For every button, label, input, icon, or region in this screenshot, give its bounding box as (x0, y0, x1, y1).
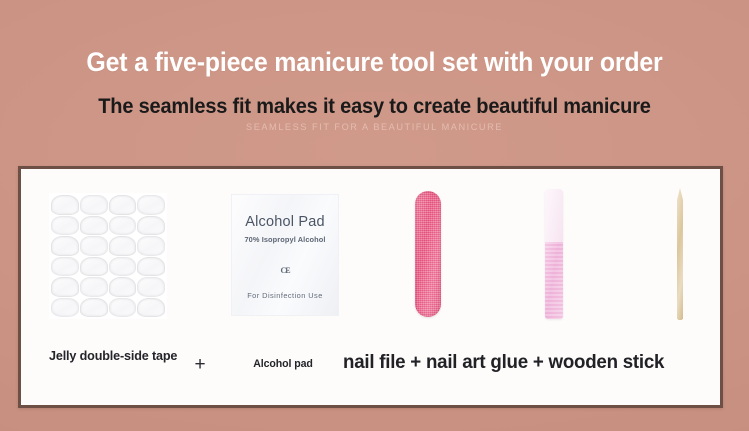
jelly-tape-tab (51, 277, 79, 297)
caption-alcohol-pad: Alcohol pad (227, 341, 339, 371)
promo-banner: Get a five-piece manicure tool set with … (0, 0, 749, 431)
jelly-tape-tab (137, 236, 165, 256)
glue-cap (545, 189, 563, 243)
product-slot-nail-file (373, 169, 483, 341)
nail-file-image (415, 191, 441, 317)
jelly-tape-tab (109, 216, 137, 236)
header-block: Get a five-piece manicure tool set with … (0, 0, 749, 133)
jelly-tape-tab (80, 216, 108, 236)
glue-body (545, 242, 563, 319)
product-image-strip: Alcohol Pad 70% Isopropyl Alcohol CE For… (21, 169, 720, 341)
ce-mark-icon: CE (232, 244, 338, 275)
alcohol-pad-package-title: Alcohol Pad (232, 195, 338, 230)
jelly-tape-tab (137, 195, 165, 215)
caption-tool-trio: nail file + nail art glue + wooden stick (343, 341, 700, 374)
jelly-tape-tab (51, 298, 79, 318)
jelly-tape-tab (80, 298, 108, 318)
jelly-tape-tab (80, 277, 108, 297)
jelly-tape-tab (109, 298, 137, 318)
product-slot-wooden-stick (625, 169, 735, 341)
product-card: Alcohol Pad 70% Isopropyl Alcohol CE For… (18, 166, 723, 408)
jelly-tape-tab (51, 216, 79, 236)
jelly-tape-tab (109, 236, 137, 256)
jelly-tape-tab (109, 195, 137, 215)
alcohol-pad-sachet-image: Alcohol Pad 70% Isopropyl Alcohol CE For… (231, 194, 339, 316)
caption-jelly-tape: Jelly double-side tape (49, 341, 181, 365)
jelly-tape-tab (109, 277, 137, 297)
jelly-tape-tab (51, 236, 79, 256)
jelly-tape-tab (137, 298, 165, 318)
jelly-tape-tab (80, 195, 108, 215)
product-slot-jelly-tape (37, 169, 179, 341)
alcohol-pad-package-subtitle: 70% Isopropyl Alcohol (232, 230, 338, 244)
jelly-tape-tab (51, 257, 79, 277)
jelly-tape-tab (137, 277, 165, 297)
product-slot-nail-art-glue (499, 169, 609, 341)
product-slot-alcohol-pad: Alcohol Pad 70% Isopropyl Alcohol CE For… (217, 169, 353, 341)
headline-kicker: SEAMLESS FIT FOR A BEAUTIFUL MANICURE (0, 117, 749, 132)
wooden-stick-image (677, 188, 683, 320)
alcohol-pad-package-usage: For Disinfection Use (232, 275, 338, 300)
jelly-tape-tab (80, 257, 108, 277)
jelly-tape-tab (51, 195, 79, 215)
headline-secondary: The seamless fit makes it easy to create… (26, 77, 723, 118)
jelly-tape-tab (137, 216, 165, 236)
jelly-tape-tab (137, 257, 165, 277)
headline-primary: Get a five-piece manicure tool set with … (22, 0, 726, 77)
jelly-tape-sheet-image (49, 193, 167, 319)
nail-art-glue-image (545, 189, 563, 319)
product-caption-row: Jelly double-side tape + Alcohol pad nai… (21, 341, 720, 405)
jelly-tape-tab (109, 257, 137, 277)
caption-plus-separator: + (189, 341, 211, 374)
jelly-tape-tab (80, 236, 108, 256)
